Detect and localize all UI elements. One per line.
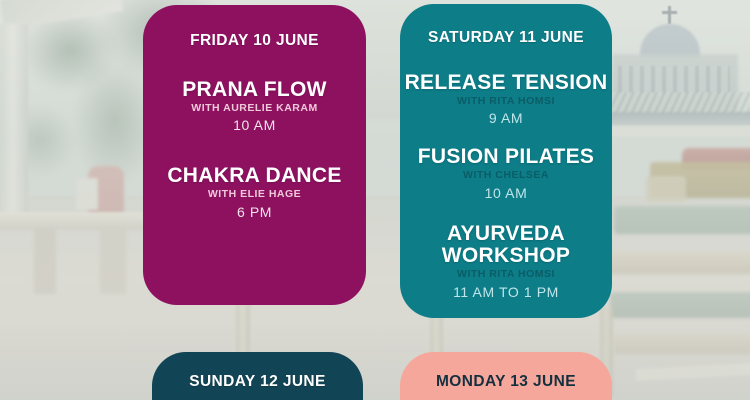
session-ayurveda-workshop[interactable]: AYURVEDA WORKSHOP WITH RITA HOMSI 11 AM … [400, 223, 612, 302]
session-title: PRANA FLOW [143, 79, 366, 101]
session-time: 11 AM TO 1 PM [400, 283, 612, 302]
card-monday[interactable]: MONDAY 13 JUNE [400, 352, 612, 400]
card-saturday[interactable]: SATURDAY 11 JUNE RELEASE TENSION WITH RI… [400, 4, 612, 318]
haze-overlay [0, 0, 750, 400]
day-label-friday: FRIDAY 10 JUNE [143, 33, 366, 49]
session-chakra-dance[interactable]: CHAKRA DANCE WITH ELIE HAGE 6 PM [143, 165, 366, 222]
session-title-line1: AYURVEDA [400, 223, 612, 245]
session-time: 10 AM [143, 116, 366, 135]
session-fusion-pilates[interactable]: FUSION PILATES WITH CHELSEA 10 AM [400, 146, 612, 203]
day-label-saturday: SATURDAY 11 JUNE [400, 30, 612, 46]
session-instructor: WITH RITA HOMSI [400, 94, 612, 110]
session-prana-flow[interactable]: PRANA FLOW WITH AURELIE KARAM 10 AM [143, 79, 366, 136]
session-release-tension[interactable]: RELEASE TENSION WITH RITA HOMSI 9 AM [400, 72, 612, 129]
background-photo [0, 0, 750, 400]
session-time: 9 AM [400, 109, 612, 128]
session-time: 10 AM [400, 184, 612, 203]
day-label-monday: MONDAY 13 JUNE [400, 374, 612, 390]
session-title: CHAKRA DANCE [143, 165, 366, 187]
session-instructor: WITH RITA HOMSI [400, 267, 612, 283]
session-instructor: WITH CHELSEA [400, 168, 612, 184]
session-title: RELEASE TENSION [400, 72, 612, 94]
schedule-poster: FRIDAY 10 JUNE PRANA FLOW WITH AURELIE K… [0, 0, 750, 400]
session-instructor: WITH ELIE HAGE [143, 187, 366, 203]
card-friday[interactable]: FRIDAY 10 JUNE PRANA FLOW WITH AURELIE K… [143, 5, 366, 305]
session-title-line2: WORKSHOP [400, 245, 612, 267]
card-sunday[interactable]: SUNDAY 12 JUNE [152, 352, 363, 400]
day-label-sunday: SUNDAY 12 JUNE [152, 374, 363, 390]
session-time: 6 PM [143, 203, 366, 222]
session-title: FUSION PILATES [400, 146, 612, 168]
session-instructor: WITH AURELIE KARAM [143, 101, 366, 117]
